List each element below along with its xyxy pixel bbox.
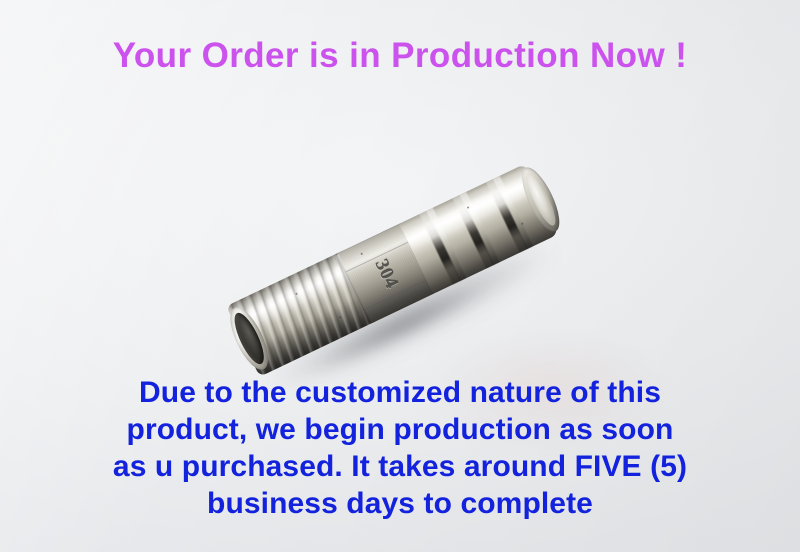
product-photo: 304 bbox=[0, 118, 800, 378]
body-line-4: business days to complete bbox=[0, 485, 800, 522]
body-line-3: as u purchased. It takes around FIVE (5) bbox=[0, 448, 800, 485]
page-title: Your Order is in Production Now ! bbox=[0, 36, 800, 76]
notice-body-text: Due to the customized nature of this pro… bbox=[0, 374, 800, 522]
notice-graphic: Your Order is in Production Now ! 304 bbox=[0, 0, 800, 552]
body-line-2: product, we begin production as soon bbox=[0, 411, 800, 448]
body-line-1: Due to the customized nature of this bbox=[0, 374, 800, 411]
